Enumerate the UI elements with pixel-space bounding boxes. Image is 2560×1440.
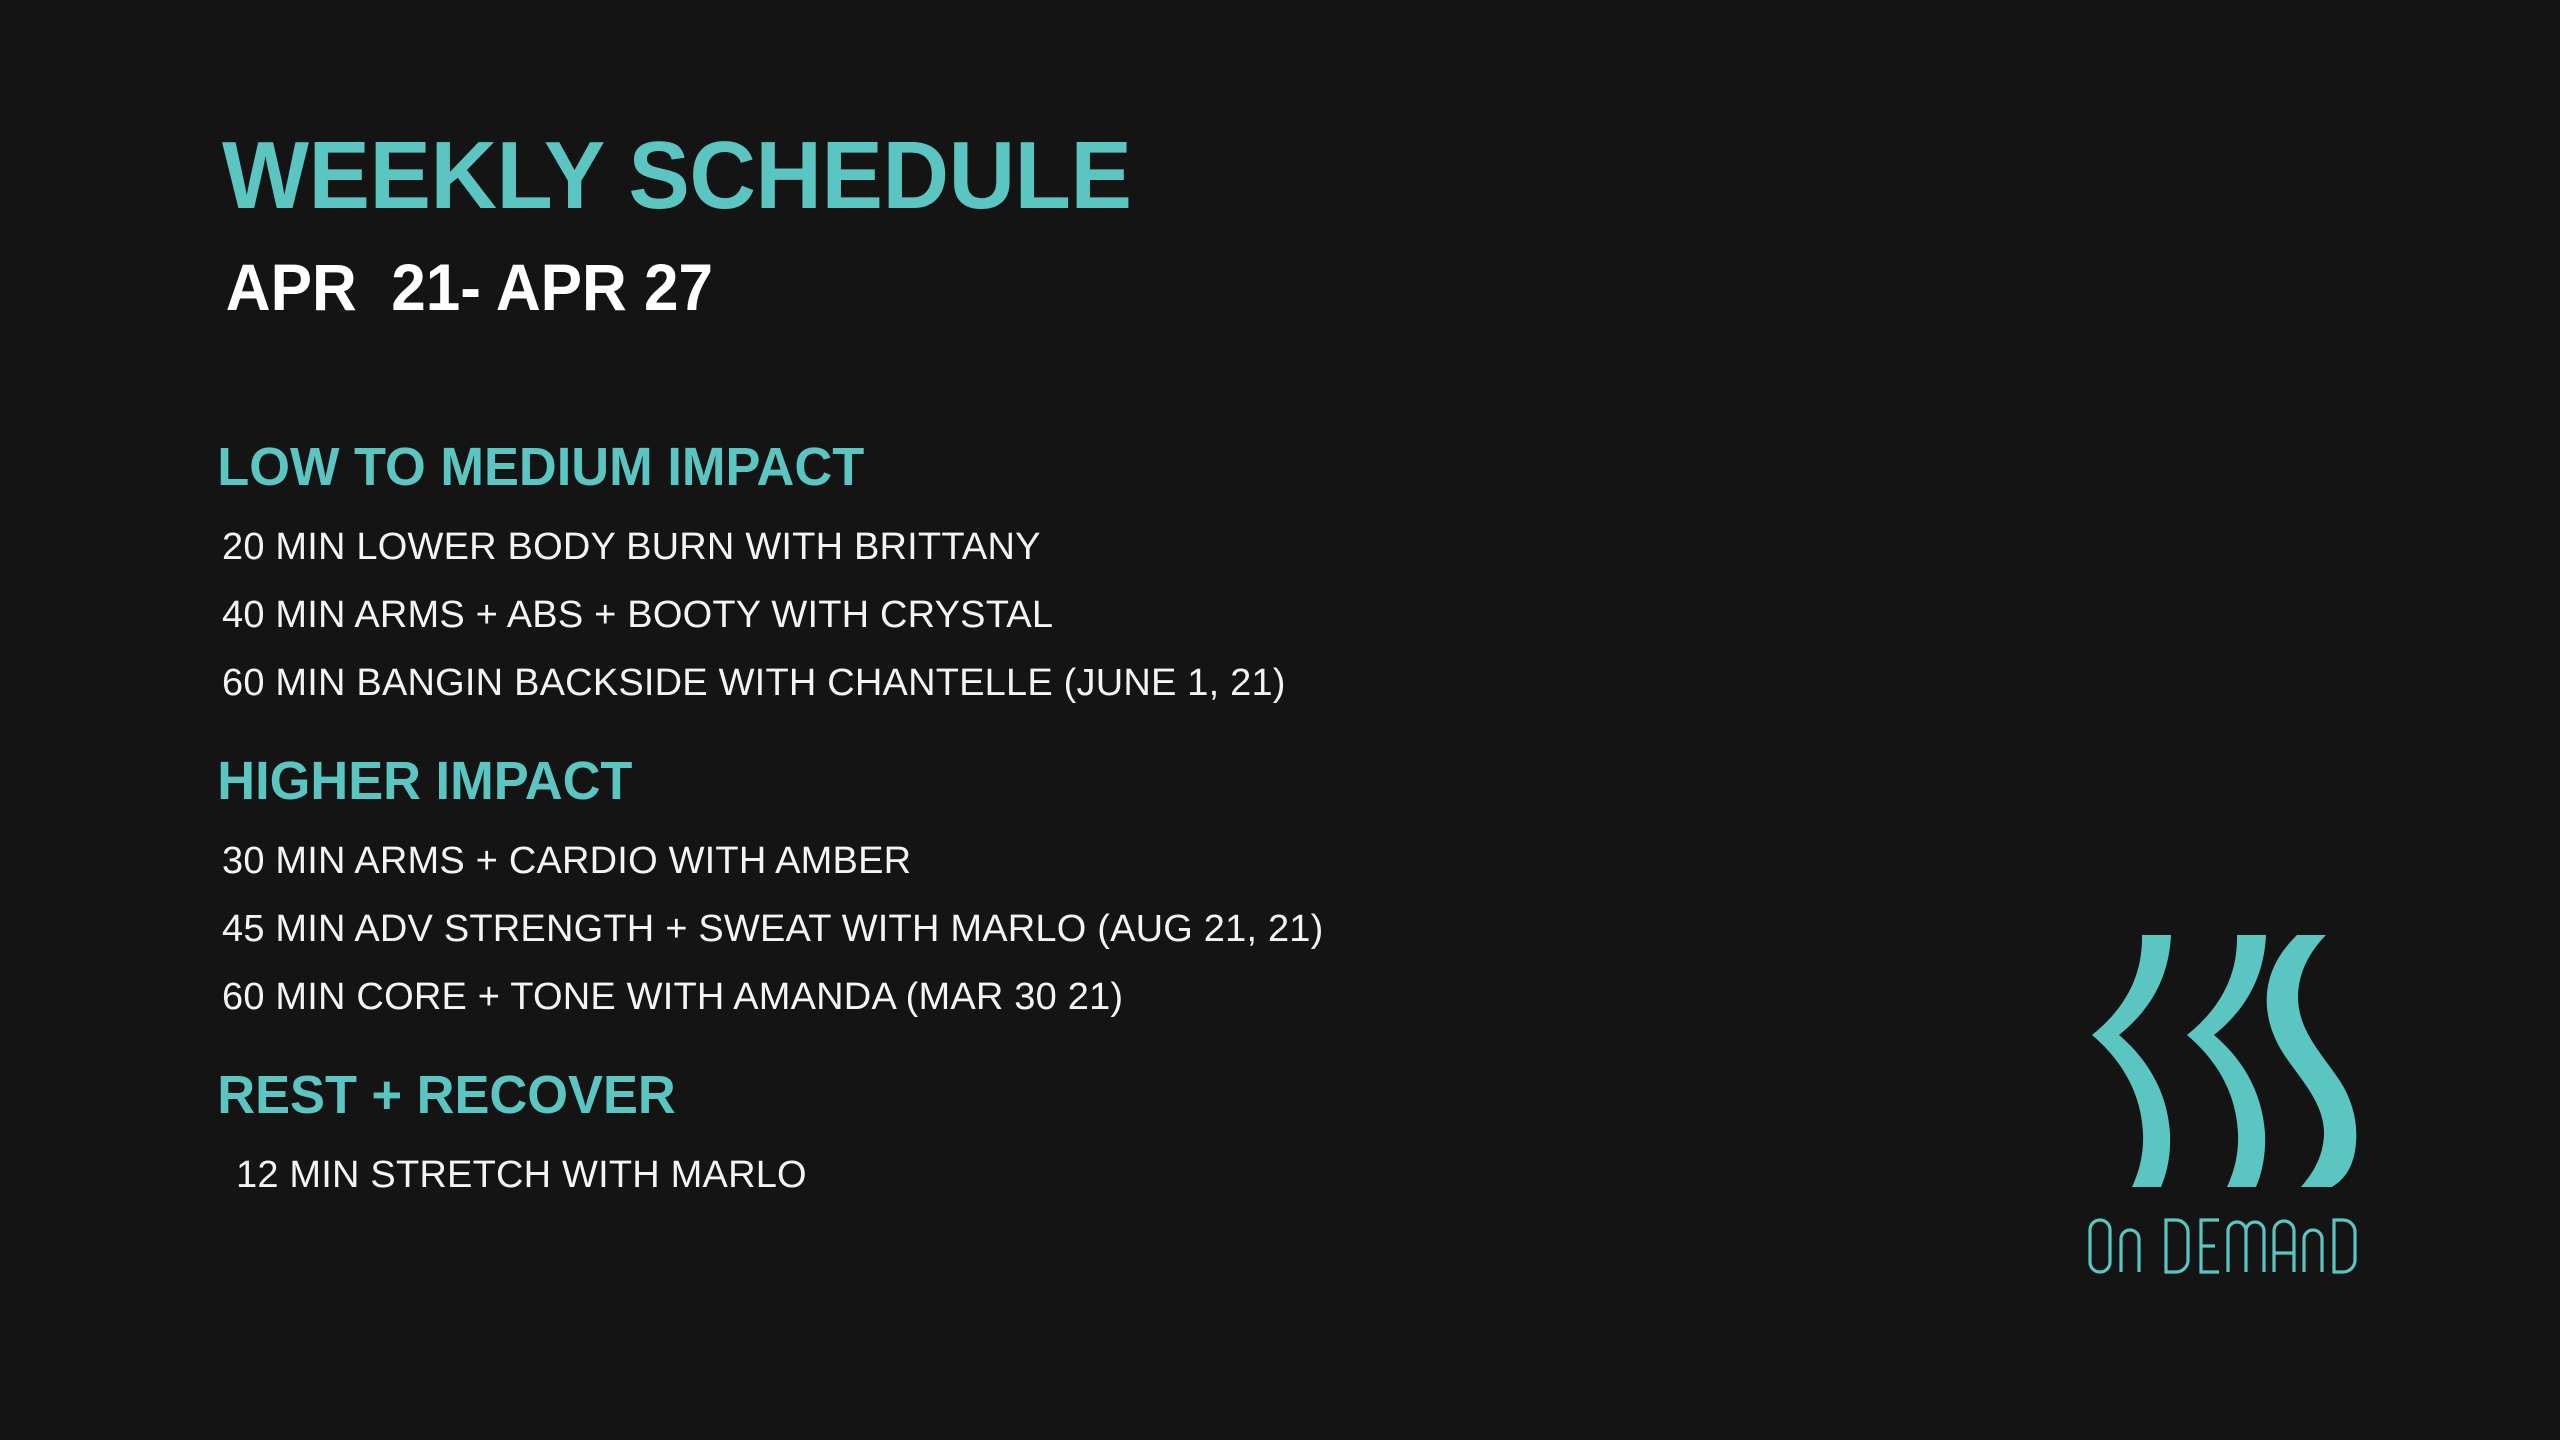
list-item: 45 MIN ADV STRENGTH + SWEAT WITH MARLO (… [0, 910, 1900, 948]
date-range: APR 21- APR 27 [222, 224, 1726, 320]
section-higher-impact: HIGHER IMPACT 30 MIN ARMS + CARDIO WITH … [0, 754, 1900, 1016]
list-item: 40 MIN ARMS + ABS + BOOTY WITH CRYSTAL [0, 596, 1900, 634]
page-title: WEEKLY SCHEDULE [222, 128, 1758, 224]
list-item: 30 MIN ARMS + CARDIO WITH AMBER [0, 842, 1900, 880]
section-heading: HIGHER IMPACT [0, 754, 1843, 808]
three-wave-mark-icon [2085, 935, 2363, 1187]
weekly-schedule-slide: WEEKLY SCHEDULE APR 21- APR 27 LOW TO ME… [0, 0, 2560, 1440]
brand-logo [2085, 935, 2375, 1277]
list-item: 60 MIN BANGIN BACKSIDE WITH CHANTELLE (J… [0, 664, 1900, 702]
class-list: 12 MIN STRETCH WITH MARLO [0, 1156, 1900, 1194]
section-heading: REST + RECOVER [0, 1068, 1843, 1122]
list-item: 20 MIN LOWER BODY BURN WITH BRITTANY [0, 528, 1900, 566]
schedule-sections: LOW TO MEDIUM IMPACT 20 MIN LOWER BODY B… [0, 440, 1900, 1194]
list-item: 60 MIN CORE + TONE WITH AMANDA (MAR 30 2… [0, 978, 1900, 1016]
list-item: 12 MIN STRETCH WITH MARLO [0, 1156, 1900, 1194]
class-list: 30 MIN ARMS + CARDIO WITH AMBER 45 MIN A… [0, 842, 1900, 1016]
section-rest-and-recover: REST + RECOVER 12 MIN STRETCH WITH MARLO [0, 1068, 1900, 1194]
header-block: WEEKLY SCHEDULE APR 21- APR 27 [222, 128, 1822, 320]
on-demand-wordmark [2085, 1215, 2363, 1277]
section-low-to-medium-impact: LOW TO MEDIUM IMPACT 20 MIN LOWER BODY B… [0, 440, 1900, 702]
class-list: 20 MIN LOWER BODY BURN WITH BRITTANY 40 … [0, 528, 1900, 702]
section-heading: LOW TO MEDIUM IMPACT [0, 440, 1843, 494]
